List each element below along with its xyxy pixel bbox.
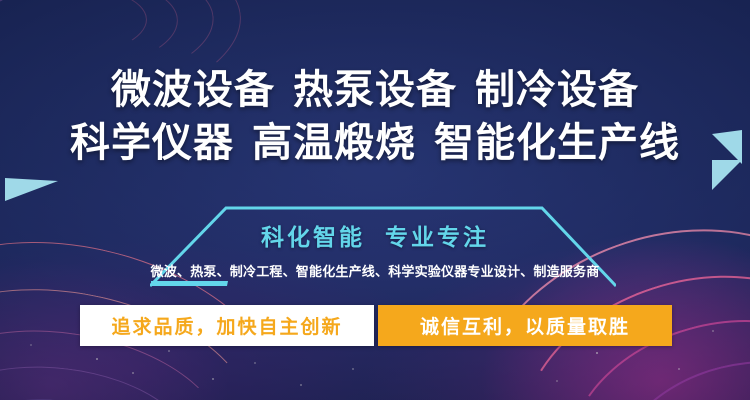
headline-line1-part3: 制冷设备	[475, 68, 639, 112]
headline-line2-part1: 科学仪器	[70, 121, 234, 165]
slogan-button-quality[interactable]: 追求品质，加快自主创新	[80, 305, 374, 346]
promo-banner: 微波设备热泵设备制冷设备 科学仪器高温煅烧智能化生产线 科化智能专业专注 微波、…	[0, 0, 750, 400]
slogan-bar: 追求品质，加快自主创新 诚信互利，以质量取胜	[80, 305, 672, 346]
headline-line1-part2: 热泵设备	[293, 68, 457, 112]
headline-line-2: 科学仪器高温煅烧智能化生产线	[0, 117, 750, 170]
banner-subtitle: 科化智能专业专注	[0, 222, 750, 252]
headline-line2-part2: 高温煅烧	[252, 121, 416, 165]
subtitle-part-1: 科化智能	[261, 224, 365, 250]
headline-line2-part3: 智能化生产线	[434, 121, 680, 165]
subtitle-part-2: 专业专注	[385, 224, 489, 250]
triangle-right-icon	[5, 178, 58, 201]
banner-headline: 微波设备热泵设备制冷设备 科学仪器高温煅烧智能化生产线	[0, 64, 750, 170]
banner-description: 微波、热泵、制冷工程、智能化生产线、科学实验仪器专业设计、制造服务商	[0, 263, 750, 281]
headline-line1-part1: 微波设备	[111, 68, 275, 112]
headline-line-1: 微波设备热泵设备制冷设备	[0, 64, 750, 117]
slogan-button-integrity[interactable]: 诚信互利，以质量取胜	[378, 305, 672, 346]
